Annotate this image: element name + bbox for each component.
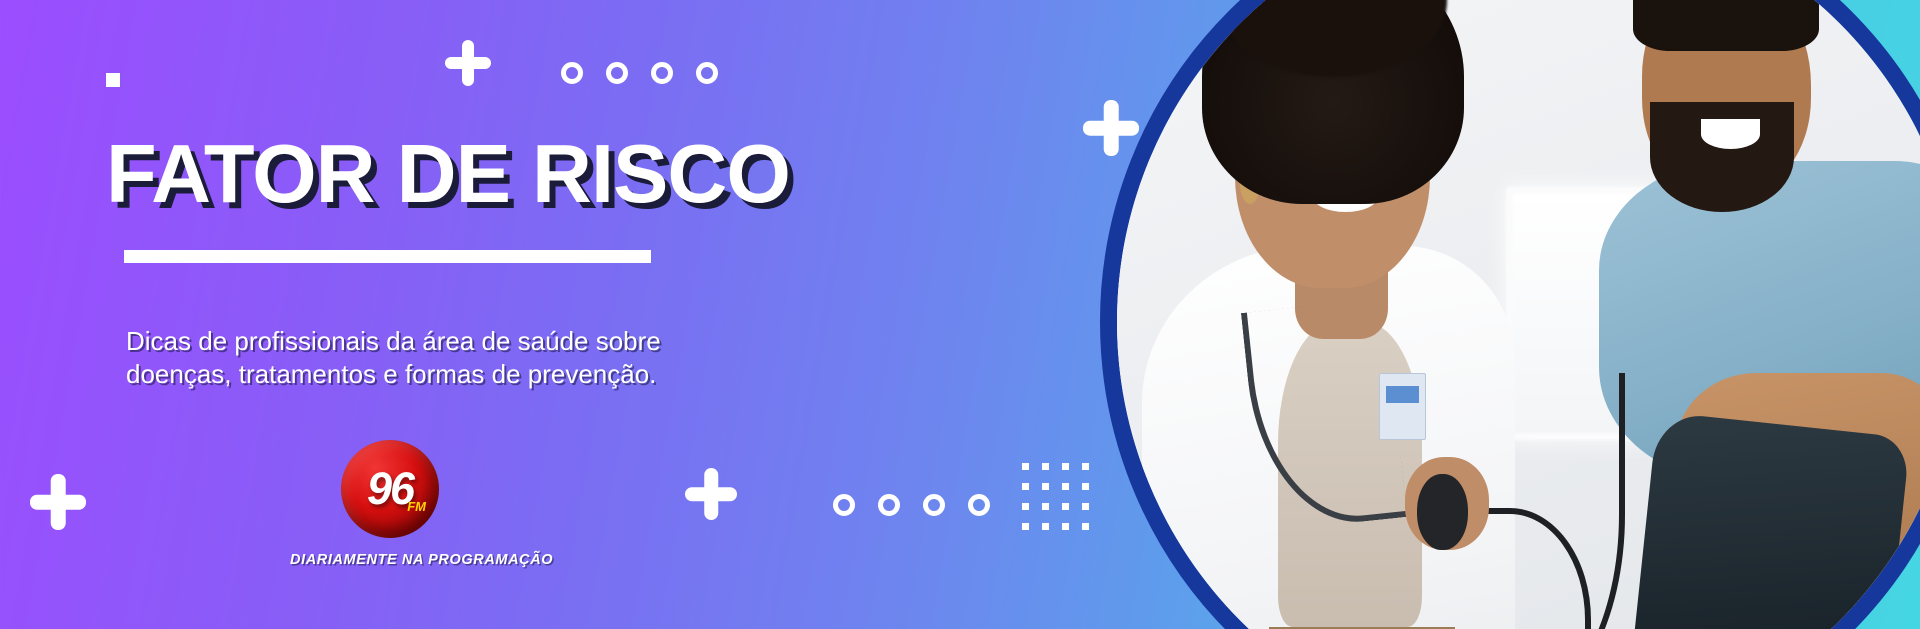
station-logo: 96 FM DIARIAMENTE NA PROGRAMAÇÃO	[290, 440, 490, 568]
title-underline	[124, 250, 651, 263]
logo-tagline: DIARIAMENTE NA PROGRAMAÇÃO	[290, 552, 490, 568]
page-title: FATOR DE RISCO	[106, 132, 790, 215]
dot-grid-icon	[1022, 463, 1089, 530]
patient-smile	[1701, 119, 1760, 149]
logo-band: FM	[407, 499, 426, 514]
subtitle-text: Dicas de profissionais da área de saúde …	[126, 325, 766, 392]
patient-hair	[1633, 0, 1819, 51]
photo-image	[1117, 0, 1920, 629]
photo-frame	[1100, 0, 1920, 629]
ring-icon	[923, 494, 945, 516]
bp-pump-bulb	[1417, 474, 1468, 550]
logo-circle: 96 FM	[341, 440, 439, 538]
headline-block: FATOR DE RISCO Dicas de profissionais da…	[0, 0, 900, 629]
id-badge	[1379, 373, 1426, 441]
blood-pressure-cuff	[1627, 411, 1909, 629]
ring-icon	[968, 494, 990, 516]
